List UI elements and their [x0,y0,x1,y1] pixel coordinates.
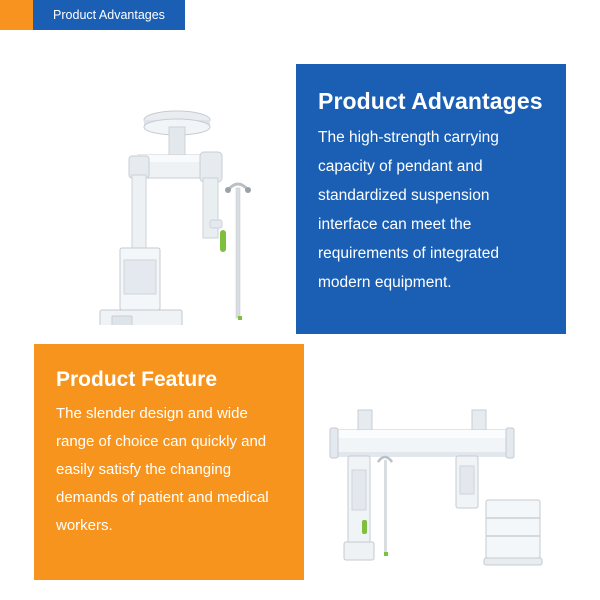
product-image-bottom: bridge-type-medical-pendant-photo [300,400,580,585]
panel-product-advantages: Product Advantages The high-strength car… [296,64,566,334]
panel-advantages-title: Product Advantages [318,88,544,115]
product-image-top: single-arm-medical-pendant-photo [60,70,290,325]
header-tab[interactable]: Product Advantages [33,0,185,30]
panel-feature-title: Product Feature [56,368,282,392]
panel-product-feature: Product Feature The slender design and w… [34,344,304,580]
header-tab-label: Product Advantages [33,0,185,30]
header-bar: Product Advantages [0,0,600,30]
panel-feature-body: The slender design and wide range of cho… [56,400,282,540]
header-accent-block [0,0,33,30]
panel-advantages-body: The high-strength carrying capacity of p… [318,123,544,297]
